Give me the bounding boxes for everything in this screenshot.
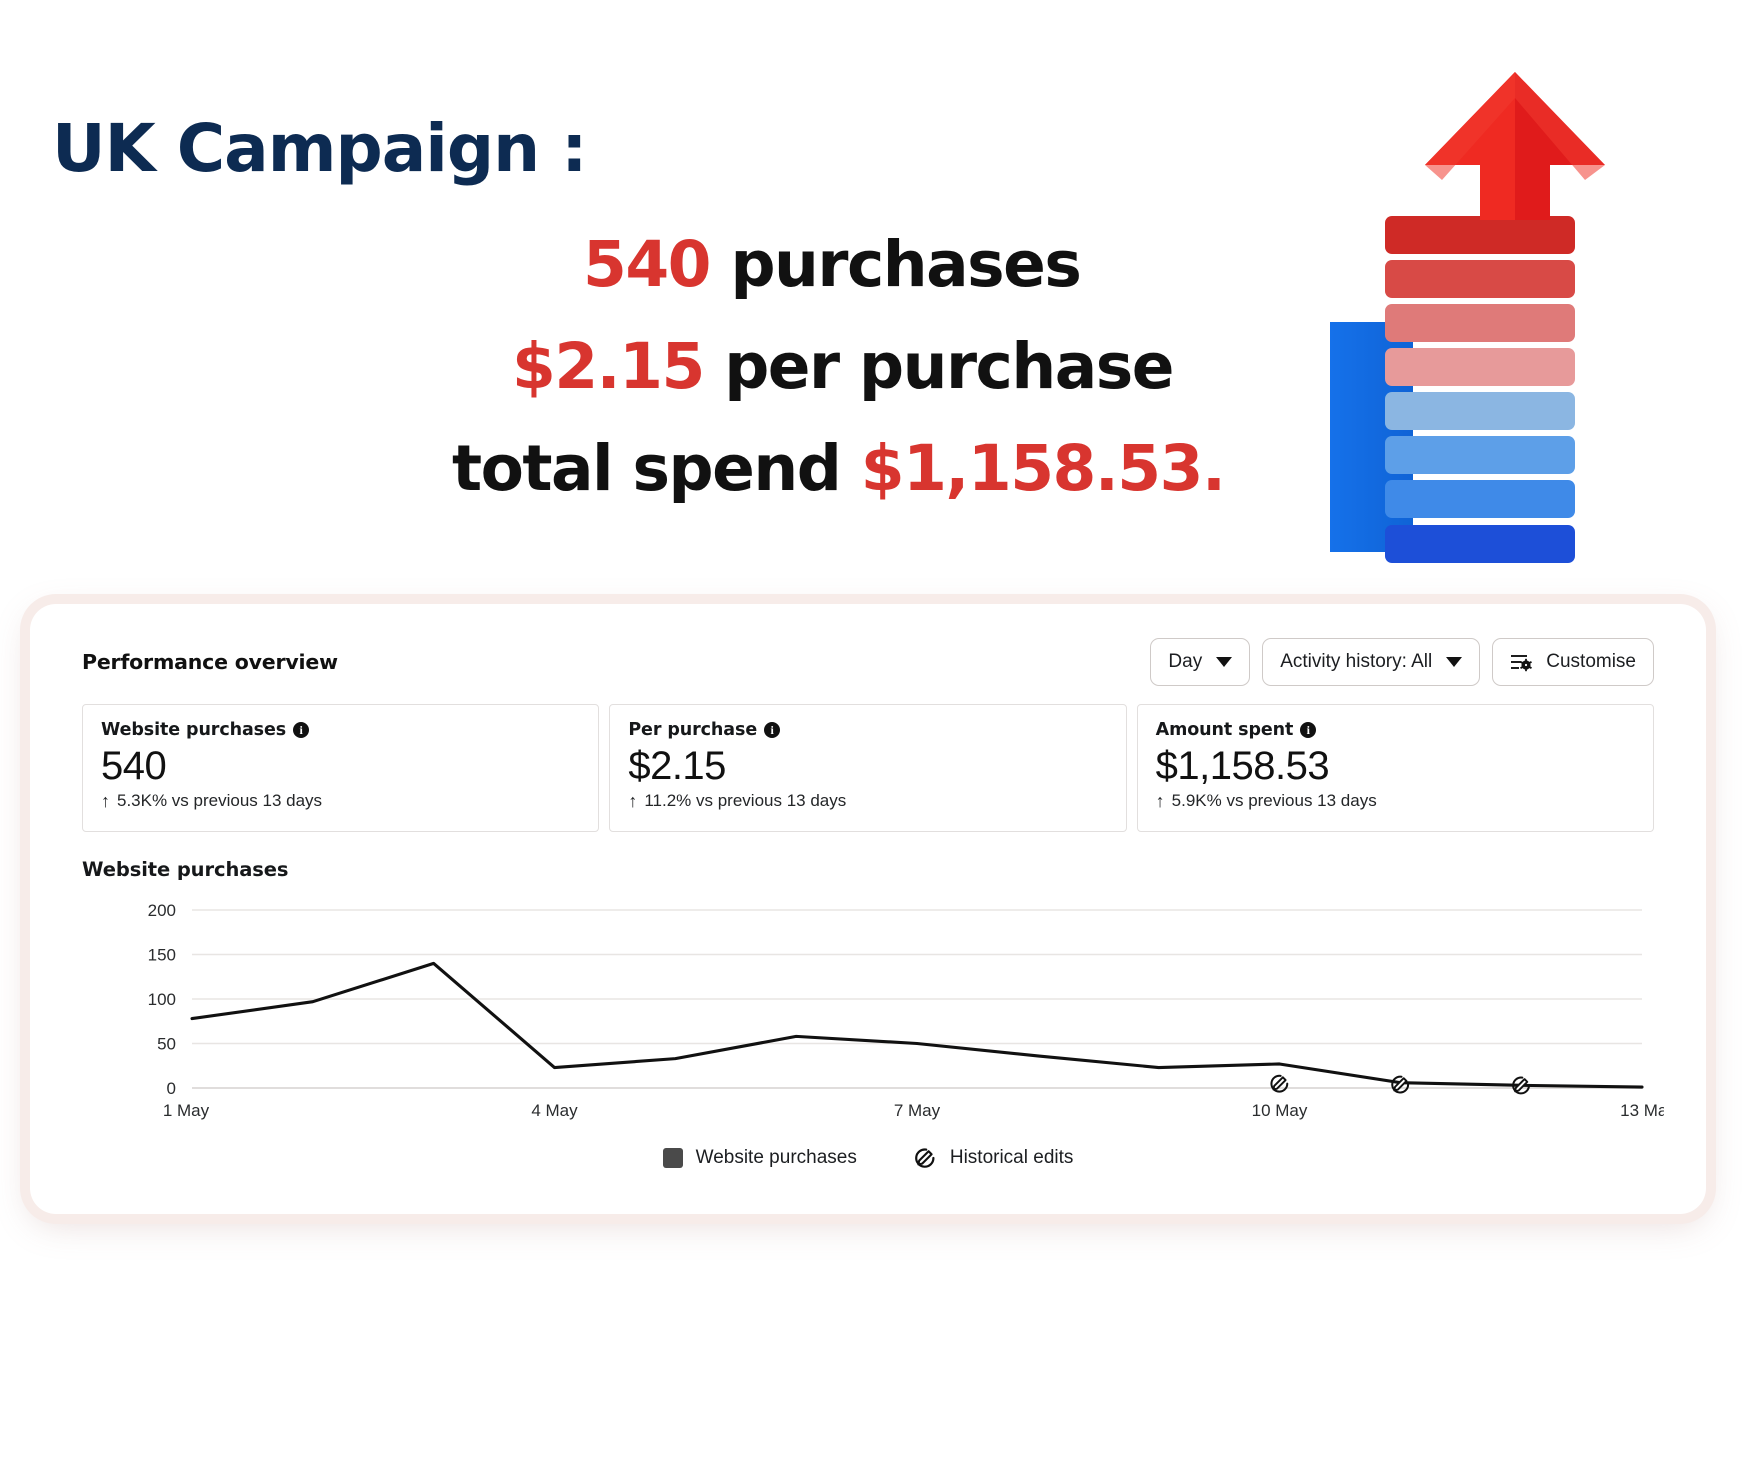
metric-label: Website purchases i bbox=[101, 720, 580, 740]
historical-edits-icon bbox=[913, 1146, 937, 1170]
metric-card-website-purchases[interactable]: Website purchases i 540 ↑ 5.3K% vs previ… bbox=[82, 704, 599, 832]
activity-history-dropdown[interactable]: Activity history: All bbox=[1262, 638, 1480, 686]
legend-label: Website purchases bbox=[696, 1147, 857, 1169]
metric-label: Per purchase i bbox=[628, 720, 1107, 740]
up-arrow-icon: ↑ bbox=[628, 792, 637, 810]
svg-text:7 May: 7 May bbox=[894, 1101, 941, 1120]
activity-history-label: Activity history: All bbox=[1280, 651, 1432, 673]
metric-value: $1,158.53 bbox=[1156, 745, 1635, 787]
headline-total-spend-value: $1,158.53 bbox=[861, 432, 1202, 505]
up-arrow-icon: ↑ bbox=[1156, 792, 1165, 810]
chevron-down-icon bbox=[1446, 657, 1462, 667]
legend-item-website-purchases[interactable]: Website purchases bbox=[663, 1147, 857, 1169]
headline-line-total-spend: total spend $1,158.53. bbox=[452, 432, 1224, 505]
headline-line-per-purchase: $2.15 per purchase bbox=[512, 330, 1173, 403]
metric-label-text: Amount spent bbox=[1156, 720, 1294, 740]
historical-edit-marker[interactable] bbox=[1392, 1077, 1408, 1093]
panel-toolbar: Day Activity history: All bbox=[1150, 638, 1654, 686]
chart-y-axis-labels: 050100150200 bbox=[148, 901, 176, 1098]
headline-per-purchase-text: per purchase bbox=[704, 330, 1173, 403]
red-arrow-head bbox=[1425, 72, 1605, 220]
headline-total-spend-prefix: total spend bbox=[452, 432, 861, 505]
headline-purchases-value: 540 bbox=[583, 228, 710, 301]
granularity-label: Day bbox=[1168, 651, 1202, 673]
svg-text:200: 200 bbox=[148, 901, 176, 920]
svg-text:13 May: 13 May bbox=[1620, 1101, 1664, 1120]
campaign-title: UK Campaign : bbox=[52, 110, 586, 187]
performance-overview-panel: Performance overview Day Activity histor… bbox=[30, 604, 1706, 1214]
panel-header: Performance overview Day Activity histor… bbox=[82, 638, 1654, 694]
chart-series-line bbox=[192, 963, 1642, 1087]
svg-text:10 May: 10 May bbox=[1252, 1101, 1308, 1120]
customise-button[interactable]: Customise bbox=[1492, 638, 1654, 686]
chart-svg: 050100150200 1 May4 May7 May10 May13 May bbox=[74, 896, 1664, 1146]
chart-legend: Website purchases Historical edits bbox=[44, 1146, 1692, 1170]
svg-text:1 May: 1 May bbox=[163, 1101, 210, 1120]
granularity-dropdown[interactable]: Day bbox=[1150, 638, 1250, 686]
legend-label: Historical edits bbox=[950, 1147, 1074, 1169]
metric-label-text: Per purchase bbox=[628, 720, 757, 740]
metric-delta-text: 5.3K% vs previous 13 days bbox=[117, 791, 322, 811]
metric-label-text: Website purchases bbox=[101, 720, 286, 740]
chart-title: Website purchases bbox=[82, 858, 288, 881]
metric-value: $2.15 bbox=[628, 745, 1107, 787]
up-arrow-3d-graphic bbox=[1330, 70, 1750, 610]
svg-text:100: 100 bbox=[148, 990, 176, 1009]
headline-per-purchase-value: $2.15 bbox=[512, 330, 704, 403]
info-icon[interactable]: i bbox=[293, 722, 309, 738]
panel-inner: Performance overview Day Activity histor… bbox=[44, 618, 1692, 1200]
svg-text:4 May: 4 May bbox=[531, 1101, 578, 1120]
customise-label: Customise bbox=[1546, 651, 1636, 673]
svg-text:50: 50 bbox=[157, 1035, 176, 1054]
svg-text:0: 0 bbox=[167, 1079, 176, 1098]
metric-delta: ↑ 5.3K% vs previous 13 days bbox=[101, 791, 580, 811]
chart-x-axis-labels: 1 May4 May7 May10 May13 May bbox=[163, 1101, 1664, 1120]
metric-card-amount-spent[interactable]: Amount spent i $1,158.53 ↑ 5.9K% vs prev… bbox=[1137, 704, 1654, 832]
metric-delta: ↑ 11.2% vs previous 13 days bbox=[628, 791, 1107, 811]
headline-line-purchases: 540 purchases bbox=[583, 228, 1080, 301]
metric-card-per-purchase[interactable]: Per purchase i $2.15 ↑ 11.2% vs previous… bbox=[609, 704, 1126, 832]
metric-cards-row: Website purchases i 540 ↑ 5.3K% vs previ… bbox=[82, 704, 1654, 832]
square-swatch-icon bbox=[663, 1148, 683, 1168]
line-chart[interactable]: 050100150200 1 May4 May7 May10 May13 May bbox=[74, 896, 1664, 1146]
headline-total-spend-suffix: . bbox=[1202, 432, 1224, 505]
legend-item-historical-edits[interactable]: Historical edits bbox=[913, 1146, 1074, 1170]
info-icon[interactable]: i bbox=[764, 722, 780, 738]
arrow-3d-svg bbox=[1330, 70, 1750, 610]
metric-delta: ↑ 5.9K% vs previous 13 days bbox=[1156, 791, 1635, 811]
metric-delta-text: 5.9K% vs previous 13 days bbox=[1172, 791, 1377, 811]
headline-purchases-text: purchases bbox=[710, 228, 1080, 301]
metric-value: 540 bbox=[101, 745, 580, 787]
chevron-down-icon bbox=[1216, 657, 1232, 667]
panel-title: Performance overview bbox=[82, 650, 338, 674]
metric-delta-text: 11.2% vs previous 13 days bbox=[644, 791, 846, 811]
chart-gridlines bbox=[192, 910, 1642, 1088]
metric-label: Amount spent i bbox=[1156, 720, 1635, 740]
stacked-slabs bbox=[1385, 216, 1575, 563]
up-arrow-icon: ↑ bbox=[101, 792, 110, 810]
svg-text:150: 150 bbox=[148, 946, 176, 965]
historical-edit-marker[interactable] bbox=[1271, 1076, 1287, 1092]
info-icon[interactable]: i bbox=[1300, 722, 1316, 738]
sliders-icon bbox=[1510, 652, 1532, 672]
